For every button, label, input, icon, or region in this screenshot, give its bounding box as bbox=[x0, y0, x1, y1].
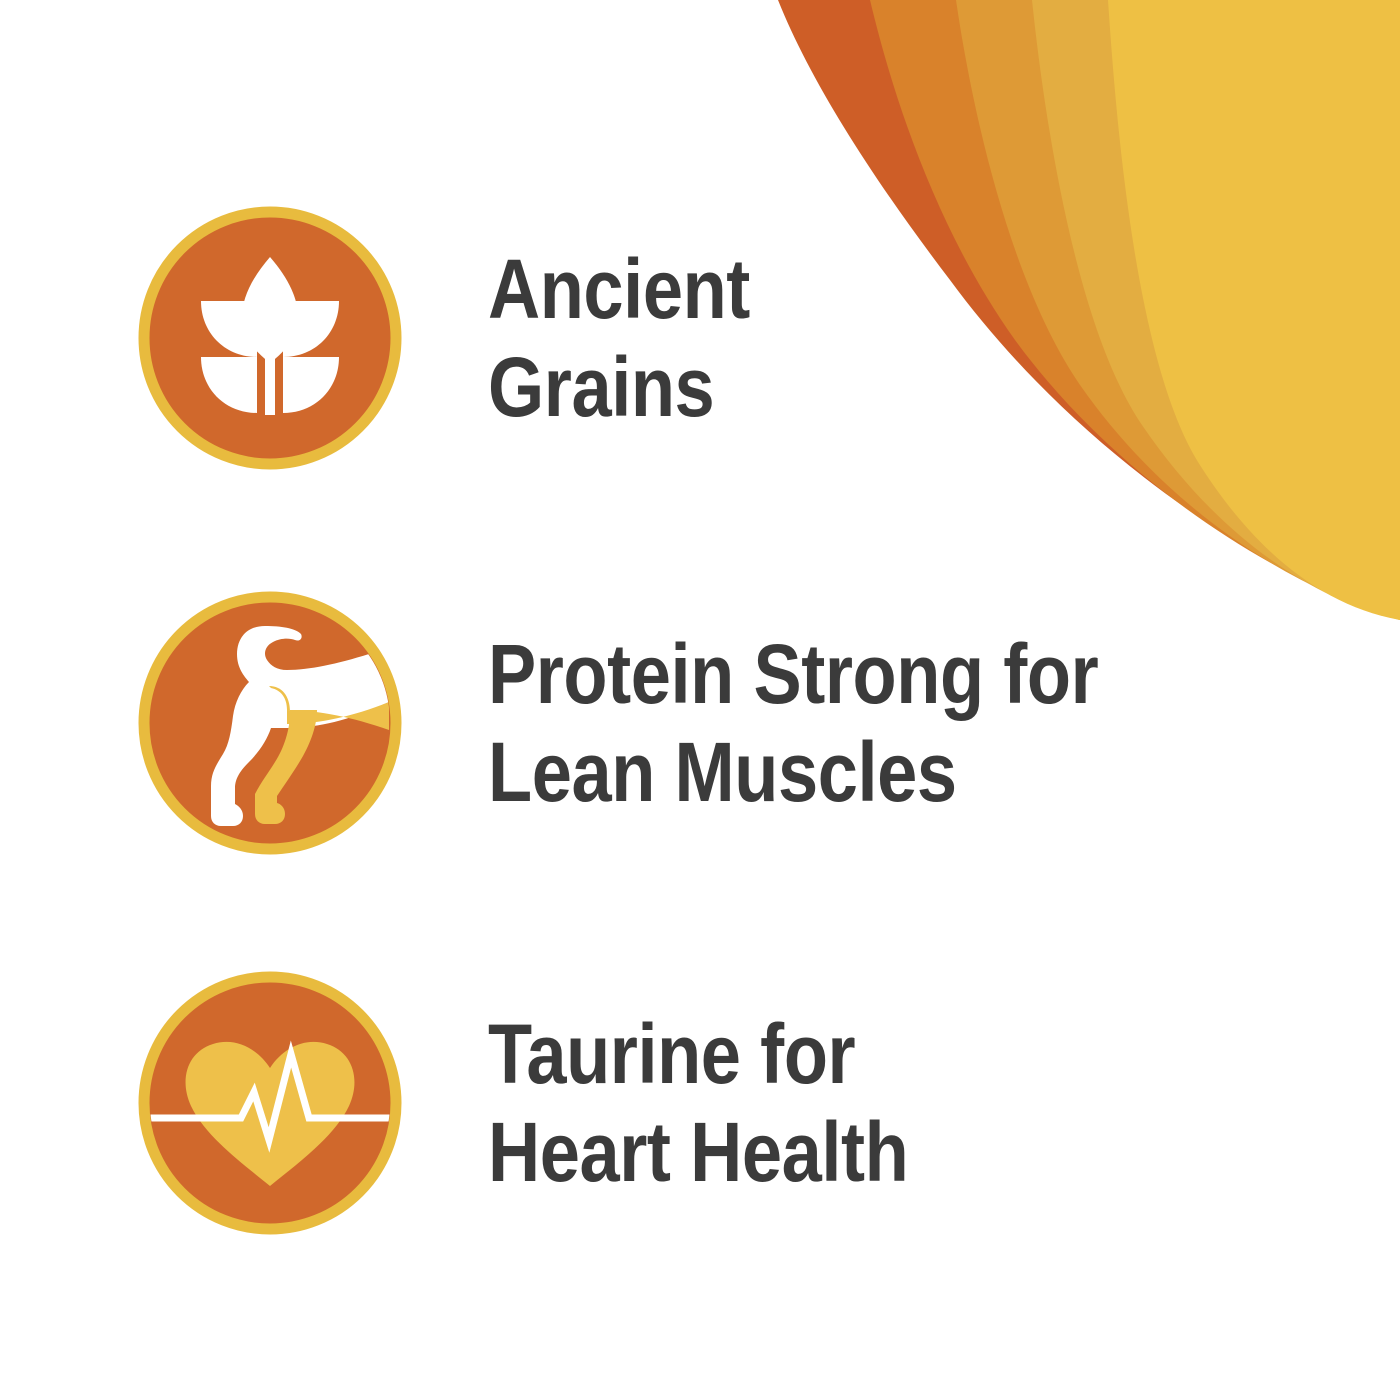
heart-pulse-icon-badge bbox=[137, 970, 403, 1236]
feature-row-protein-strong: Protein Strong for Lean Muscles bbox=[137, 590, 1198, 856]
feature-label-protein-strong: Protein Strong for Lean Muscles bbox=[488, 625, 1098, 822]
wave-band-2 bbox=[870, 0, 1400, 620]
wave-band-1 bbox=[778, 0, 1400, 620]
dog-muscle-icon bbox=[137, 590, 403, 856]
wave-band-4 bbox=[1032, 0, 1400, 620]
wave-band-3 bbox=[956, 0, 1400, 620]
heart-pulse-icon bbox=[137, 970, 403, 1236]
feature-label-ancient-grains: Ancient Grains bbox=[488, 240, 750, 437]
corner-wave-decoration bbox=[760, 0, 1400, 620]
feature-row-ancient-grains: Ancient Grains bbox=[137, 205, 793, 471]
grain-icon bbox=[137, 205, 403, 471]
feature-label-taurine-heart: Taurine for Heart Health bbox=[488, 1005, 908, 1202]
dog-muscle-icon-badge bbox=[137, 590, 403, 856]
wave-band-5 bbox=[1108, 0, 1400, 620]
feature-row-taurine-heart: Taurine for Heart Health bbox=[137, 970, 977, 1236]
marketing-benefits-graphic: Ancient Grains bbox=[0, 0, 1400, 1400]
grain-icon-badge bbox=[137, 205, 403, 471]
